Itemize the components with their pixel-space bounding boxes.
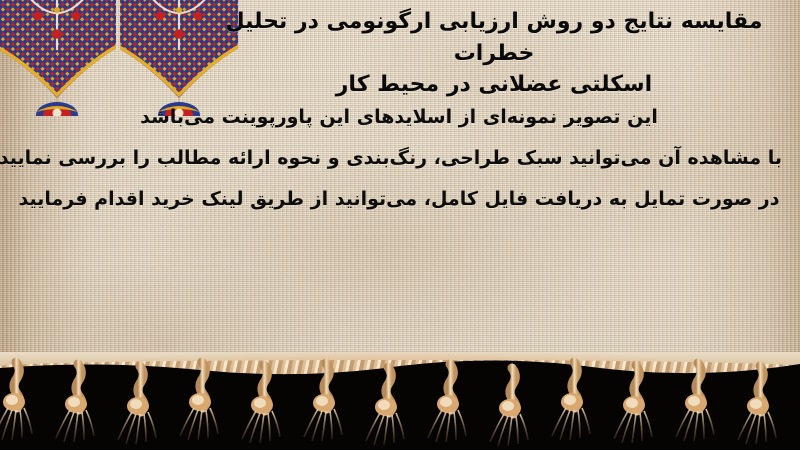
body-line-3: در صورت تمایل به دریافت فایل کامل، می‌تو… bbox=[16, 190, 782, 209]
body-line-2: با مشاهده آن می‌توانید سبک طراحی، رنگ‌بن… bbox=[16, 149, 782, 168]
carpet-medallion-ornament-left bbox=[0, 0, 116, 120]
slide-title: مقایسه نتایج دو روش ارزیابی ارگونومی در … bbox=[214, 6, 774, 101]
slide-title-line-1: مقایسه نتایج دو روش ارزیابی ارگونومی در … bbox=[214, 6, 774, 69]
carpet-fringe bbox=[0, 340, 800, 450]
body-line-1: این تصویر نمونه‌ای از اسلایدهای این پاور… bbox=[16, 108, 782, 127]
slide-title-line-2: اسکلتی عضلانی در محیط کار bbox=[214, 69, 774, 101]
fringe-tassels-icon bbox=[0, 340, 800, 450]
slide-body: این تصویر نمونه‌ای از اسلایدهای این پاور… bbox=[16, 108, 782, 209]
slide-canvas: مقایسه نتایج دو روش ارزیابی ارگونومی در … bbox=[0, 0, 800, 450]
medallion-icon bbox=[0, 0, 116, 116]
